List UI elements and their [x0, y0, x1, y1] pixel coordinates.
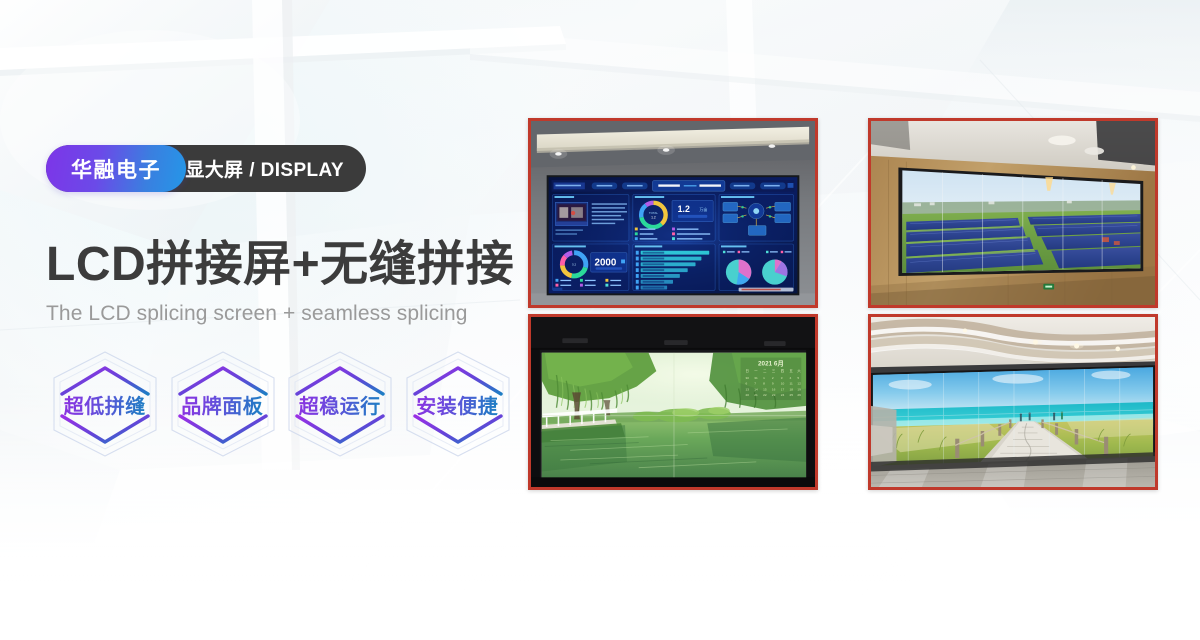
svg-text:18: 18 — [790, 387, 794, 391]
svg-text:31: 31 — [754, 376, 758, 380]
beach-boardwalk-video-wall-image — [871, 317, 1155, 487]
svg-text:1.2: 1.2 — [651, 215, 656, 219]
gallery-photo-top-left[interactable]: TOTAL 1.2 1.2 万亩 — [528, 118, 818, 308]
svg-text:14: 14 — [754, 387, 758, 391]
promo-banner: 商显大屏 / DISPLAY 华融电子 LCD拼接屏+无缝拼接 The LCD … — [0, 0, 1200, 640]
svg-text:4: 4 — [790, 376, 792, 380]
svg-text:19: 19 — [797, 387, 801, 391]
feature-label: 超稳运行 — [299, 390, 381, 419]
svg-text:日: 日 — [745, 369, 748, 373]
svg-text:16: 16 — [772, 387, 776, 391]
svg-text:四: 四 — [781, 369, 784, 373]
svg-text:3: 3 — [781, 376, 783, 380]
svg-text:1.2: 1.2 — [678, 204, 690, 214]
brand-pill: 华融电子 — [46, 145, 186, 192]
svg-text:2000: 2000 — [595, 257, 617, 268]
svg-text:25: 25 — [790, 393, 794, 397]
svg-text:23: 23 — [772, 393, 776, 397]
brand-badge: 商显大屏 / DISPLAY 华融电子 — [46, 145, 516, 192]
landscape-video-wall-image: 2021 6月 日一二 三四五 六 30311 2345 678 9101112… — [531, 317, 815, 487]
banner-content: 商显大屏 / DISPLAY 华融电子 LCD拼接屏+无缝拼接 The LCD … — [46, 145, 516, 460]
svg-text:万亩: 万亩 — [699, 207, 707, 212]
banner-title: LCD拼接屏+无缝拼接 — [46, 240, 516, 290]
feature-list: 超低拼缝 品牌面板 超稳运行 — [46, 348, 516, 460]
feature-item-2: 品牌面板 — [164, 348, 282, 460]
svg-text:11: 11 — [790, 382, 794, 386]
svg-text:8: 8 — [763, 382, 765, 386]
dashboard-video-wall-image: TOTAL 1.2 1.2 万亩 — [531, 121, 815, 305]
svg-text:22: 22 — [763, 393, 767, 397]
gallery-photo-bottom-right[interactable] — [868, 314, 1158, 490]
svg-text:2021 6月: 2021 6月 — [758, 359, 784, 367]
svg-text:9: 9 — [772, 382, 774, 386]
svg-text:30: 30 — [745, 376, 749, 380]
svg-text:5: 5 — [797, 376, 799, 380]
svg-text:17: 17 — [781, 387, 785, 391]
category-label: 商显大屏 / DISPLAY — [166, 155, 344, 182]
feature-item-4: 安装便捷 — [399, 348, 517, 460]
svg-text:1: 1 — [763, 376, 765, 380]
svg-text:13: 13 — [745, 387, 749, 391]
feature-label: 安装便捷 — [416, 390, 498, 419]
svg-text:24: 24 — [781, 393, 785, 397]
svg-text:6: 6 — [745, 382, 747, 386]
svg-text:12: 12 — [797, 382, 801, 386]
svg-text:20: 20 — [745, 393, 749, 397]
svg-text:TOTAL: TOTAL — [649, 211, 659, 215]
feature-item-1: 超低拼缝 — [46, 348, 164, 460]
feature-item-3: 超稳运行 — [281, 348, 399, 460]
svg-text:15: 15 — [763, 387, 767, 391]
svg-text:26: 26 — [797, 393, 801, 397]
svg-text:10: 10 — [781, 382, 785, 386]
feature-label: 品牌面板 — [181, 390, 263, 419]
product-gallery: TOTAL 1.2 1.2 万亩 — [528, 118, 1160, 490]
banner-subtitle: The LCD splicing screen + seamless splic… — [46, 302, 516, 326]
brand-label: 华融电子 — [71, 154, 161, 184]
svg-text:21: 21 — [754, 393, 758, 397]
gallery-photo-top-right[interactable] — [868, 118, 1158, 308]
gallery-photo-bottom-left[interactable]: 2021 6月 日一二 三四五 六 30311 2345 678 9101112… — [528, 314, 818, 490]
svg-text:7: 7 — [754, 382, 756, 386]
svg-text:2: 2 — [772, 376, 774, 380]
feature-label: 超低拼缝 — [64, 390, 146, 419]
svg-text:5.2: 5.2 — [572, 262, 576, 266]
solar-farm-video-wall-image — [871, 121, 1155, 305]
